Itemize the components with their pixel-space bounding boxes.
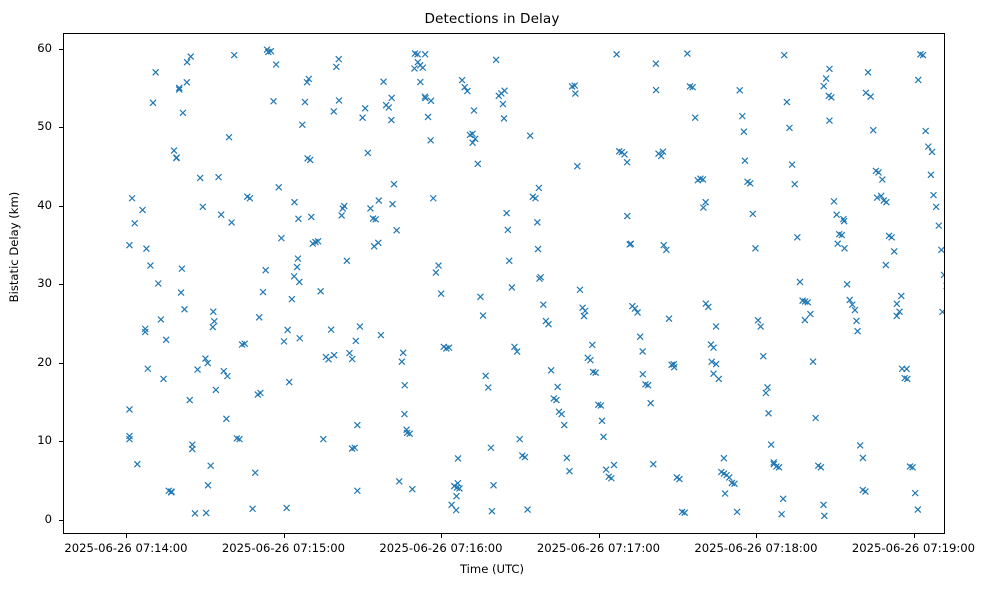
- scatter-marker: [493, 57, 499, 63]
- scatter-marker: [752, 245, 758, 251]
- scatter-marker: [574, 163, 580, 169]
- scatter-marker: [766, 410, 772, 416]
- scatter-marker: [422, 51, 428, 57]
- scatter-marker: [818, 464, 824, 470]
- scatter-marker: [367, 205, 373, 211]
- scatter-marker: [501, 115, 507, 121]
- scatter-marker: [502, 88, 508, 94]
- scatter-marker: [931, 192, 937, 198]
- scatter-marker: [455, 480, 461, 486]
- scatter-marker: [601, 434, 607, 440]
- scatter-marker: [928, 172, 934, 178]
- scatter-marker: [247, 195, 253, 201]
- scatter-marker: [865, 69, 871, 75]
- scatter-marker: [180, 110, 186, 116]
- scatter-marker: [203, 510, 209, 516]
- scatter-marker: [589, 342, 595, 348]
- scatter-marker: [789, 162, 795, 168]
- scatter-marker: [260, 289, 266, 295]
- scatter-marker: [488, 445, 494, 451]
- scatter-marker: [491, 482, 497, 488]
- scatter-marker: [581, 313, 587, 319]
- scatter-marker: [553, 397, 559, 403]
- scatter-marker: [389, 95, 395, 101]
- scatter-marker: [747, 180, 753, 186]
- scatter-marker: [150, 100, 156, 106]
- scatter-marker: [810, 359, 816, 365]
- y-tick-2: [59, 363, 63, 364]
- scatter-marker: [438, 291, 444, 297]
- scatter-marker: [142, 329, 148, 335]
- scatter-marker: [381, 79, 387, 85]
- scatter-marker: [178, 290, 184, 296]
- scatter-marker: [648, 400, 654, 406]
- scatter-marker: [224, 373, 230, 379]
- scatter-marker: [841, 245, 847, 251]
- scatter-marker: [386, 105, 392, 111]
- scatter-marker: [411, 65, 417, 71]
- scatter-marker: [807, 311, 813, 317]
- scatter-marker: [436, 263, 442, 269]
- scatter-marker: [399, 359, 405, 365]
- scatter-marker: [532, 195, 538, 201]
- scatter-marker: [433, 270, 439, 276]
- scatter-marker: [826, 118, 832, 124]
- scatter-marker: [611, 462, 617, 468]
- scatter-marker: [546, 321, 552, 327]
- scatter-marker: [402, 382, 408, 388]
- scatter-marker: [291, 199, 297, 205]
- scatter-marker: [863, 90, 869, 96]
- scatter-marker: [223, 416, 229, 422]
- scatter-marker: [915, 77, 921, 83]
- y-tick-label-0: 0: [0, 512, 52, 526]
- y-tick-1: [59, 441, 63, 442]
- scatter-marker: [535, 246, 541, 252]
- scatter-marker: [336, 97, 342, 103]
- scatter-marker: [480, 313, 486, 319]
- scatter-marker: [640, 371, 646, 377]
- y-axis-label: Bistatic Delay (km): [7, 147, 21, 347]
- scatter-marker: [132, 220, 138, 226]
- scatter-marker: [741, 129, 747, 135]
- scatter-marker: [876, 169, 882, 175]
- scatter-marker: [357, 324, 363, 330]
- scatter-marker: [925, 144, 931, 150]
- scatter-marker: [703, 301, 709, 307]
- scatter-marker: [459, 77, 465, 83]
- scatter-marker: [853, 318, 859, 324]
- scatter-marker: [394, 227, 400, 233]
- scatter-marker: [722, 491, 728, 497]
- x-tick-label-1: 2025-06-26 07:15:00: [204, 541, 364, 555]
- scatter-marker: [349, 356, 355, 362]
- scatter-marker: [653, 61, 659, 67]
- scatter-marker: [750, 211, 756, 217]
- x-tick-2: [441, 534, 442, 538]
- scatter-marker: [263, 267, 269, 273]
- scatter-marker: [415, 59, 421, 65]
- x-tick-1: [284, 534, 285, 538]
- scatter-marker: [142, 326, 148, 332]
- scatter-marker: [354, 422, 360, 428]
- scatter-marker: [577, 287, 583, 293]
- scatter-marker: [711, 345, 717, 351]
- x-tick-label-5: 2025-06-26 07:19:00: [834, 541, 984, 555]
- scatter-points-layer: [64, 34, 944, 533]
- scatter-marker: [813, 415, 819, 421]
- y-tick-label-5: 50: [0, 119, 52, 133]
- scatter-marker: [780, 496, 786, 502]
- scatter-marker: [608, 475, 614, 481]
- y-tick-label-2: 20: [0, 355, 52, 369]
- scatter-marker: [721, 455, 727, 461]
- scatter-marker: [126, 433, 132, 439]
- scatter-marker: [823, 76, 829, 82]
- scatter-marker: [797, 279, 803, 285]
- scatter-marker: [653, 87, 659, 93]
- scatter-marker: [527, 133, 533, 139]
- scatter-marker: [163, 337, 169, 343]
- scatter-marker: [155, 281, 161, 287]
- y-tick-3: [59, 284, 63, 285]
- scatter-marker: [371, 243, 377, 249]
- scatter-marker: [471, 108, 477, 114]
- scatter-marker: [145, 366, 151, 372]
- scatter-marker: [534, 219, 540, 225]
- scatter-marker: [285, 327, 291, 333]
- scatter-marker: [425, 114, 431, 120]
- scatter-marker: [834, 212, 840, 218]
- scatter-marker: [147, 263, 153, 269]
- scatter-marker: [506, 258, 512, 264]
- scatter-marker: [505, 227, 511, 233]
- scatter-marker: [894, 301, 900, 307]
- scatter-marker: [184, 79, 190, 85]
- scatter-marker: [420, 65, 426, 71]
- scatter-marker: [391, 181, 397, 187]
- scatter-marker: [821, 513, 827, 519]
- scatter-marker: [802, 317, 808, 323]
- scatter-marker: [784, 99, 790, 105]
- scatter-marker: [295, 216, 301, 222]
- scatter-marker: [218, 212, 224, 218]
- scatter-marker: [828, 94, 834, 100]
- scatter-marker: [376, 198, 382, 204]
- scatter-marker: [763, 390, 769, 396]
- scatter-marker: [307, 157, 313, 163]
- scatter-marker: [333, 64, 339, 70]
- scatter-marker: [742, 158, 748, 164]
- x-axis-label: Time (UTC): [0, 562, 984, 576]
- scatter-marker: [195, 367, 201, 373]
- scatter-marker: [318, 288, 324, 294]
- y-tick-6: [59, 49, 63, 50]
- scatter-marker: [134, 461, 140, 467]
- y-tick-0: [59, 520, 63, 521]
- x-tick-0: [126, 534, 127, 538]
- scatter-marker: [726, 474, 732, 480]
- scatter-marker: [417, 79, 423, 85]
- scatter-marker: [126, 436, 132, 442]
- scatter-marker: [912, 490, 918, 496]
- scatter-marker: [734, 509, 740, 515]
- scatter-marker: [739, 113, 745, 119]
- scatter-marker: [794, 234, 800, 240]
- scatter-marker: [320, 436, 326, 442]
- scatter-marker: [179, 266, 185, 272]
- scatter-marker: [603, 467, 609, 473]
- scatter-marker: [868, 94, 874, 100]
- scatter-marker: [126, 406, 132, 412]
- scatter-marker: [500, 101, 506, 107]
- scatter-marker: [181, 306, 187, 312]
- scatter-marker: [281, 338, 287, 344]
- scatter-marker: [126, 242, 132, 248]
- x-tick-3: [599, 534, 600, 538]
- scatter-marker: [189, 446, 195, 452]
- scatter-marker: [339, 212, 345, 218]
- scatter-marker: [768, 442, 774, 448]
- scatter-marker: [711, 371, 717, 377]
- scatter-marker: [455, 455, 461, 461]
- scatter-marker: [889, 234, 895, 240]
- scatter-marker: [276, 184, 282, 190]
- scatter-marker: [786, 125, 792, 131]
- scatter-marker: [713, 323, 719, 329]
- scatter-marker: [572, 91, 578, 97]
- scatter-marker: [200, 204, 206, 210]
- scatter-marker: [344, 258, 350, 264]
- scatter-marker: [852, 307, 858, 313]
- y-tick-5: [59, 127, 63, 128]
- scatter-marker: [378, 332, 384, 338]
- scatter-marker: [703, 199, 709, 205]
- scatter-marker: [936, 223, 942, 229]
- scatter-marker: [153, 69, 159, 75]
- scatter-marker: [765, 384, 771, 390]
- scatter-marker: [862, 489, 868, 495]
- scatter-marker: [614, 51, 620, 57]
- scatter-marker: [192, 510, 198, 516]
- scatter-marker: [504, 210, 510, 216]
- scatter-marker: [289, 296, 295, 302]
- scatter-marker: [755, 317, 761, 323]
- scatter-marker: [821, 502, 827, 508]
- scatter-marker: [929, 149, 935, 155]
- scatter-marker: [781, 52, 787, 58]
- scatter-marker: [716, 376, 722, 382]
- scatter-marker: [129, 195, 135, 201]
- scatter-marker: [326, 356, 332, 362]
- scatter-marker: [891, 248, 897, 254]
- scatter-marker: [273, 62, 279, 68]
- scatter-marker: [210, 309, 216, 315]
- scatter-marker: [844, 281, 850, 287]
- scatter-marker: [559, 411, 565, 417]
- scatter-marker: [475, 161, 481, 167]
- scatter-marker: [933, 204, 939, 210]
- scatter-marker: [621, 151, 627, 157]
- scatter-marker: [624, 159, 630, 165]
- scatter-marker: [143, 246, 149, 252]
- scatter-marker: [517, 436, 523, 442]
- scatter-marker: [555, 384, 561, 390]
- scatter-marker: [587, 357, 593, 363]
- scatter-marker: [205, 482, 211, 488]
- scatter-marker: [250, 506, 256, 512]
- x-tick-label-3: 2025-06-26 07:17:00: [519, 541, 679, 555]
- scatter-marker: [760, 353, 766, 359]
- scatter-marker: [390, 201, 396, 207]
- scatter-marker: [400, 350, 406, 356]
- scatter-marker: [213, 387, 219, 393]
- matplotlib-figure: Detections in Delay 2025-06-26 07:14:002…: [0, 0, 984, 590]
- scatter-marker: [208, 463, 214, 469]
- scatter-marker: [388, 117, 394, 123]
- scatter-marker: [346, 350, 352, 356]
- scatter-marker: [184, 59, 190, 65]
- scatter-marker: [582, 308, 588, 314]
- scatter-marker: [831, 198, 837, 204]
- scatter-marker: [564, 455, 570, 461]
- scatter-marker: [428, 98, 434, 104]
- scatter-marker: [940, 309, 944, 315]
- scatter-marker: [489, 508, 495, 514]
- scatter-marker: [453, 493, 459, 499]
- scatter-marker: [297, 335, 303, 341]
- scatter-marker: [278, 235, 284, 241]
- scatter-marker: [705, 304, 711, 310]
- x-tick-5: [914, 534, 915, 538]
- scatter-marker: [599, 418, 605, 424]
- scatter-marker: [365, 150, 371, 156]
- scatter-marker: [286, 379, 292, 385]
- scatter-marker: [401, 411, 407, 417]
- scatter-marker: [231, 52, 237, 58]
- scatter-marker: [295, 256, 301, 262]
- scatter-marker: [256, 314, 262, 320]
- scatter-marker: [257, 390, 263, 396]
- scatter-marker: [483, 373, 489, 379]
- scatter-marker: [879, 177, 885, 183]
- scatter-marker: [904, 366, 910, 372]
- x-tick-label-0: 2025-06-26 07:14:00: [46, 541, 206, 555]
- scatter-marker: [826, 66, 832, 72]
- scatter-marker: [857, 442, 863, 448]
- scatter-marker: [522, 454, 528, 460]
- scatter-marker: [821, 83, 827, 89]
- scatter-marker: [883, 262, 889, 268]
- scatter-marker: [792, 181, 798, 187]
- scatter-marker: [188, 54, 194, 60]
- scatter-marker: [566, 468, 572, 474]
- scatter-marker: [477, 294, 483, 300]
- scatter-marker: [328, 327, 334, 333]
- scatter-marker: [216, 174, 222, 180]
- scatter-marker: [226, 134, 232, 140]
- scatter-marker: [308, 214, 314, 220]
- page-title: Detections in Delay: [0, 11, 984, 27]
- scatter-marker: [331, 108, 337, 114]
- scatter-marker: [171, 148, 177, 154]
- scatter-marker: [700, 205, 706, 211]
- scatter-marker: [173, 155, 179, 161]
- scatter-marker: [362, 105, 368, 111]
- scatter-marker: [640, 348, 646, 354]
- scatter-marker: [430, 195, 436, 201]
- scatter-marker: [684, 51, 690, 57]
- scatter-marker: [676, 476, 682, 482]
- scatter-marker: [758, 324, 764, 330]
- scatter-marker: [779, 511, 785, 517]
- scatter-marker: [294, 264, 300, 270]
- x-tick-4: [756, 534, 757, 538]
- scatter-marker: [561, 422, 567, 428]
- scatter-marker: [299, 122, 305, 128]
- scatter-marker: [158, 316, 164, 322]
- scatter-marker: [271, 98, 277, 104]
- scatter-marker: [197, 175, 203, 181]
- scatter-marker: [187, 397, 193, 403]
- scatter-marker: [637, 334, 643, 340]
- scatter-marker: [855, 328, 861, 334]
- scatter-marker: [548, 367, 554, 373]
- scatter-marker: [860, 455, 866, 461]
- scatter-marker: [331, 352, 337, 358]
- scatter-marker: [870, 127, 876, 133]
- scatter-marker: [211, 318, 217, 324]
- scatter-marker: [941, 272, 944, 278]
- scatter-marker: [883, 199, 889, 205]
- scatter-marker: [229, 220, 235, 226]
- scatter-marker: [396, 478, 402, 484]
- scatter-marker: [296, 279, 302, 285]
- y-tick-label-1: 10: [0, 433, 52, 447]
- scatter-marker: [252, 470, 258, 476]
- scatter-marker: [624, 213, 630, 219]
- scatter-marker: [161, 376, 167, 382]
- scatter-marker: [540, 302, 546, 308]
- scatter-marker: [428, 137, 434, 143]
- scatter-marker: [692, 115, 698, 121]
- scatter-marker: [938, 247, 944, 253]
- scatter-marker: [453, 507, 459, 513]
- scatter-marker: [210, 324, 216, 330]
- scatter-marker: [835, 241, 841, 247]
- scatter-marker: [354, 488, 360, 494]
- plot-axes: [63, 33, 945, 534]
- scatter-marker: [284, 505, 290, 511]
- scatter-marker: [291, 273, 297, 279]
- scatter-marker: [485, 385, 491, 391]
- x-tick-label-2: 2025-06-26 07:16:00: [361, 541, 521, 555]
- scatter-marker: [536, 185, 542, 191]
- scatter-marker: [221, 368, 227, 374]
- y-tick-4: [59, 206, 63, 207]
- scatter-marker: [666, 316, 672, 322]
- scatter-marker: [353, 338, 359, 344]
- scatter-marker: [302, 99, 308, 105]
- scatter-marker: [898, 293, 904, 299]
- scatter-marker: [525, 507, 531, 513]
- scatter-marker: [923, 128, 929, 134]
- scatter-marker: [509, 284, 515, 290]
- scatter-marker: [650, 461, 656, 467]
- scatter-marker: [140, 207, 146, 213]
- scatter-marker: [915, 507, 921, 513]
- scatter-marker: [360, 115, 366, 121]
